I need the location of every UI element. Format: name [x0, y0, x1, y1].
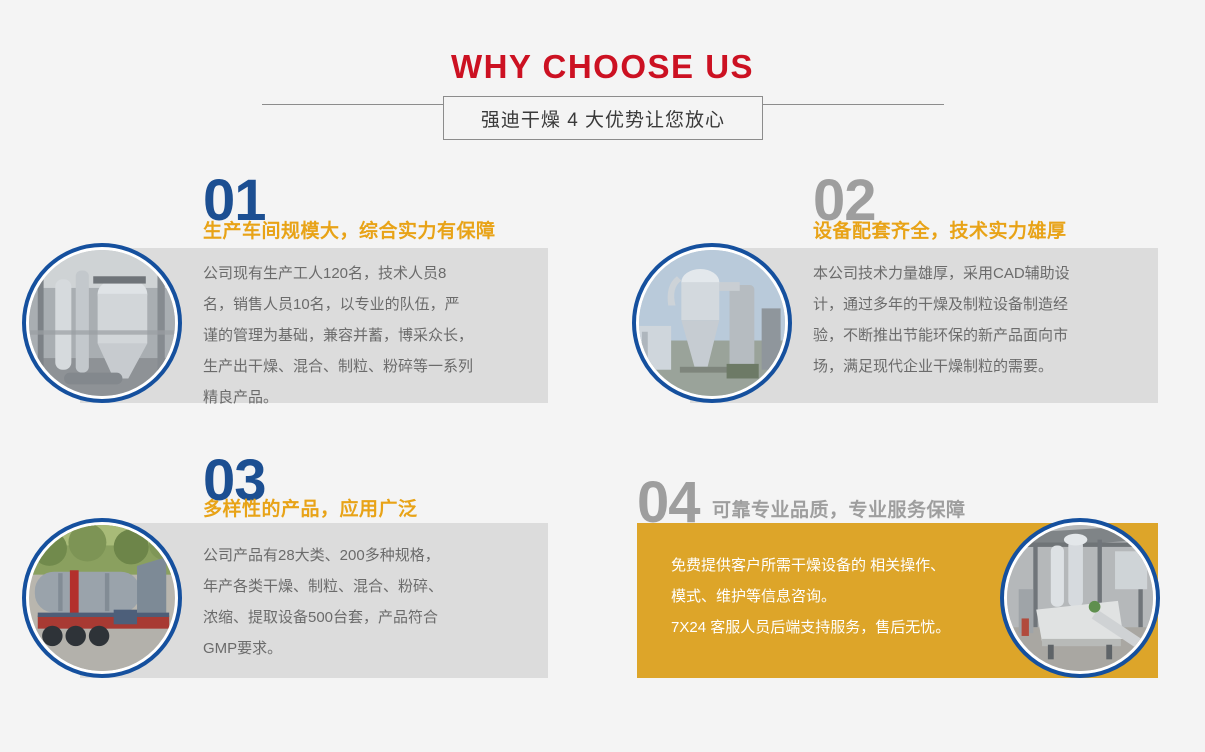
card-04-body: 免费提供客户所需干燥设备的 相关操作、 模式、维护等信息咨询。 7X24 客服人… [671, 550, 950, 643]
page-subtitle: 强迪干燥 4 大优势让您放心 [481, 105, 725, 132]
card-04-body-line: 模式、维护等信息咨询。 [671, 581, 950, 612]
spray-dryer-tower-photo [632, 243, 792, 403]
fluid-bed-dryer-plant-photo [1000, 518, 1160, 678]
card-04-body-line: 7X24 客服人员后端支持服务，售后无忧。 [671, 612, 950, 643]
card-03-body-line: 浓缩、提取设备500台套，产品符合 [203, 602, 443, 633]
card-02-body-line: 本公司技术力量雄厚，采用CAD辅助设 [813, 258, 1070, 289]
card-03-body-line: 公司产品有28大类、200多种规格， [203, 540, 443, 571]
photo-clip [639, 250, 785, 396]
rotary-dryer-truck-photo [22, 518, 182, 678]
card-01-body-line: 名，销售人员10名，以专业的队伍，严 [203, 289, 473, 320]
card-02-body-line: 验，不断推出节能环保的新产品面向市 [813, 320, 1070, 351]
spray-dryer-workshop-photo [22, 243, 182, 403]
card-02-body-line: 场，满足现代企业干燥制粒的需要。 [813, 351, 1070, 382]
card-04-number: 04 [637, 474, 700, 532]
card-01-body-line: 谨的管理为基础，兼容并蓄，博采众长， [203, 320, 473, 351]
card-04-heading: 可靠专业品质，专业服务保障 [712, 495, 966, 522]
card-03-heading: 多样性的产品，应用广泛 [203, 494, 418, 521]
card-02-body: 本公司技术力量雄厚，采用CAD辅助设 计，通过多年的干燥及制粒设备制造经 验，不… [813, 258, 1070, 382]
photo-clip [1007, 525, 1153, 671]
card-01-body-line: 生产出干燥、混合、制粒、粉碎等一系列 [203, 351, 473, 382]
photo-clip [29, 525, 175, 671]
header-subtitle-box: 强迪干燥 4 大优势让您放心 [443, 96, 763, 140]
card-01-body: 公司现有生产工人120名，技术人员8 名，销售人员10名，以专业的队伍，严 谨的… [203, 258, 473, 413]
card-03-body-line: 年产各类干燥、制粒、混合、粉碎、 [203, 571, 443, 602]
header-rule-right [763, 104, 944, 105]
card-01-body-line: 公司现有生产工人120名，技术人员8 [203, 258, 473, 289]
card-03-body: 公司产品有28大类、200多种规格， 年产各类干燥、制粒、混合、粉碎、 浓缩、提… [203, 540, 443, 664]
card-02-body-line: 计，通过多年的干燥及制粒设备制造经 [813, 289, 1070, 320]
card-01-heading: 生产车间规模大，综合实力有保障 [203, 216, 496, 243]
card-04-body-line: 免费提供客户所需干燥设备的 相关操作、 [671, 550, 950, 581]
page-header: WHY CHOOSE US 强迪干燥 4 大优势让您放心 [0, 0, 1205, 155]
photo-clip [29, 250, 175, 396]
card-03-body-line: GMP要求。 [203, 633, 443, 664]
header-rule-left [262, 104, 443, 105]
card-02-heading: 设备配套齐全，技术实力雄厚 [813, 216, 1067, 243]
page-title: WHY CHOOSE US [0, 48, 1205, 86]
card-01-body-line: 精良产品。 [203, 382, 473, 413]
